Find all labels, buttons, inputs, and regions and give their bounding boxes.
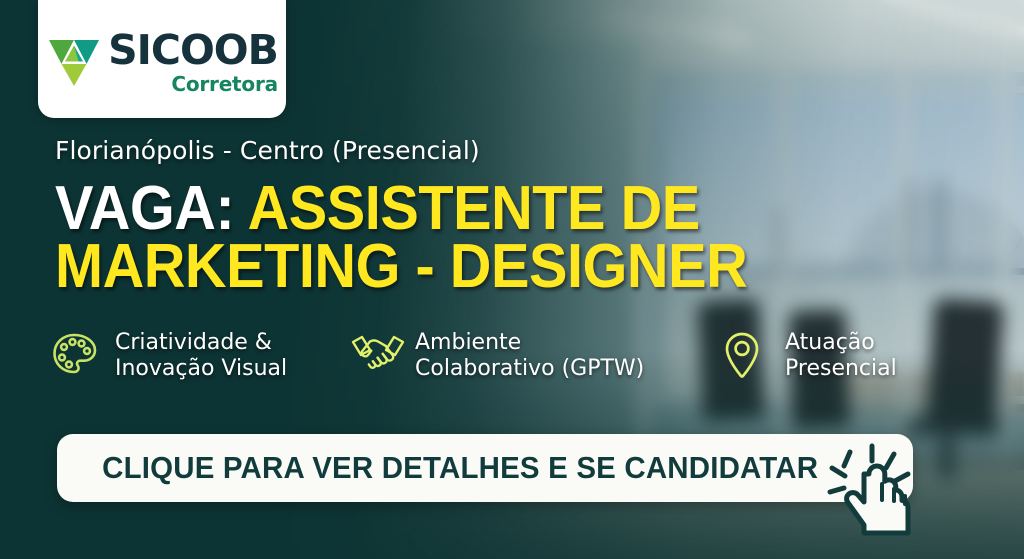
logo-inner: SICOOB Corretora [46,24,278,94]
feature-creativity-label: Criatividade & Inovação Visual [115,330,287,382]
logo-wordmark: SICOOB [108,30,278,71]
job-ad-banner: SICOOB Corretora Florianópolis - Centro … [0,0,1024,559]
features-row: Criatividade & Inovação Visual Ambiente [50,330,980,382]
page-title: VAGA: ASSISTENTE DE MARKETING - DESIGNER [55,180,780,295]
logo-text: SICOOB Corretora [108,30,278,94]
feature-creativity-line2: Inovação Visual [115,356,287,381]
headline-role-part2: MARKETING - DESIGNER [55,232,747,301]
sicoob-logo-card: SICOOB Corretora [38,0,286,118]
logo-subtitle: Corretora [108,74,278,94]
feature-collaboration-label: Ambiente Colaborativo (GPTW) [415,330,644,382]
feature-collaboration: Ambiente Colaborativo (GPTW) [350,330,720,382]
palette-icon [50,330,102,382]
feature-collaboration-line1: Ambiente [415,330,521,355]
location-text: Florianópolis - Centro (Presencial) [55,136,480,165]
feature-onsite-line2: Presencial [785,356,897,381]
feature-onsite: Atuação Presencial [720,330,980,382]
feature-collaboration-line2: Colaborativo (GPTW) [415,356,644,381]
feature-creativity: Criatividade & Inovação Visual [50,330,350,382]
feature-onsite-label: Atuação Presencial [785,330,897,382]
handshake-icon [350,330,402,382]
cta-button-label: CLIQUE PARA VER DETALHES E SE CANDIDATAR [102,450,867,486]
feature-creativity-line1: Criatividade & [115,330,272,355]
feature-onsite-line1: Atuação [785,330,875,355]
cta-button[interactable]: CLIQUE PARA VER DETALHES E SE CANDIDATAR [57,434,913,502]
sicoob-triangle-icon [46,36,102,88]
location-pin-icon [720,330,772,382]
